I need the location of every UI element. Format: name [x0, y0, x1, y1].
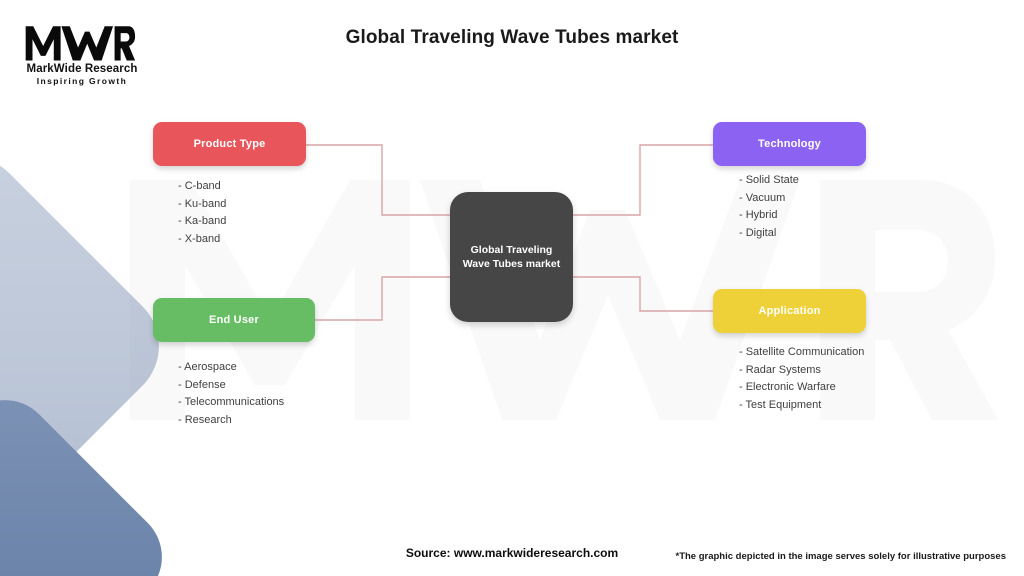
list-item: - Electronic Warfare	[739, 379, 864, 397]
category-box-end-user[interactable]: End User	[153, 298, 315, 342]
item-list-technology: - Solid State - Vacuum - Hybrid - Digita…	[739, 172, 799, 242]
connector-technology	[572, 145, 713, 215]
list-item: - Vacuum	[739, 190, 799, 208]
list-item: - Satellite Communication	[739, 344, 864, 362]
disclaimer-text: *The graphic depicted in the image serve…	[676, 551, 1007, 562]
decorative-shape-light	[0, 134, 182, 558]
center-node[interactable]: Global Traveling Wave Tubes market	[450, 192, 573, 322]
list-item: - Ku-band	[178, 196, 226, 214]
list-item: - Research	[178, 412, 284, 430]
category-label-product-type: Product Type	[194, 138, 266, 150]
category-label-application: Application	[758, 305, 820, 317]
center-node-label: Global Traveling Wave Tubes market	[450, 243, 573, 271]
list-item: - Test Equipment	[739, 397, 864, 415]
list-item: - Hybrid	[739, 207, 799, 225]
category-label-end-user: End User	[209, 314, 259, 326]
brand-tagline: Inspiring Growth	[16, 76, 148, 86]
list-item: - X-band	[178, 231, 226, 249]
list-item: - Telecommunications	[178, 394, 284, 412]
list-item: - Radar Systems	[739, 362, 864, 380]
infographic-canvas: MarkWide Research Inspiring Growth Globa…	[0, 0, 1024, 576]
category-box-product-type[interactable]: Product Type	[153, 122, 306, 166]
category-box-application[interactable]: Application	[713, 289, 866, 333]
list-item: - Solid State	[739, 172, 799, 190]
item-list-application: - Satellite Communication - Radar System…	[739, 344, 864, 414]
connector-end-user	[315, 277, 452, 320]
item-list-end-user: - Aerospace - Defense - Telecommunicatio…	[178, 359, 284, 429]
item-list-product-type: - C-band - Ku-band - Ka-band - X-band	[178, 178, 226, 248]
brand-name: MarkWide Research	[16, 63, 148, 75]
list-item: - Ka-band	[178, 213, 226, 231]
category-label-technology: Technology	[758, 138, 821, 150]
list-item: - Digital	[739, 225, 799, 243]
connector-application	[572, 277, 713, 311]
list-item: - C-band	[178, 178, 226, 196]
list-item: - Aerospace	[178, 359, 284, 377]
category-box-technology[interactable]: Technology	[713, 122, 866, 166]
page-title: Global Traveling Wave Tubes market	[0, 27, 1024, 49]
connector-product-type	[306, 145, 452, 215]
list-item: - Defense	[178, 377, 284, 395]
